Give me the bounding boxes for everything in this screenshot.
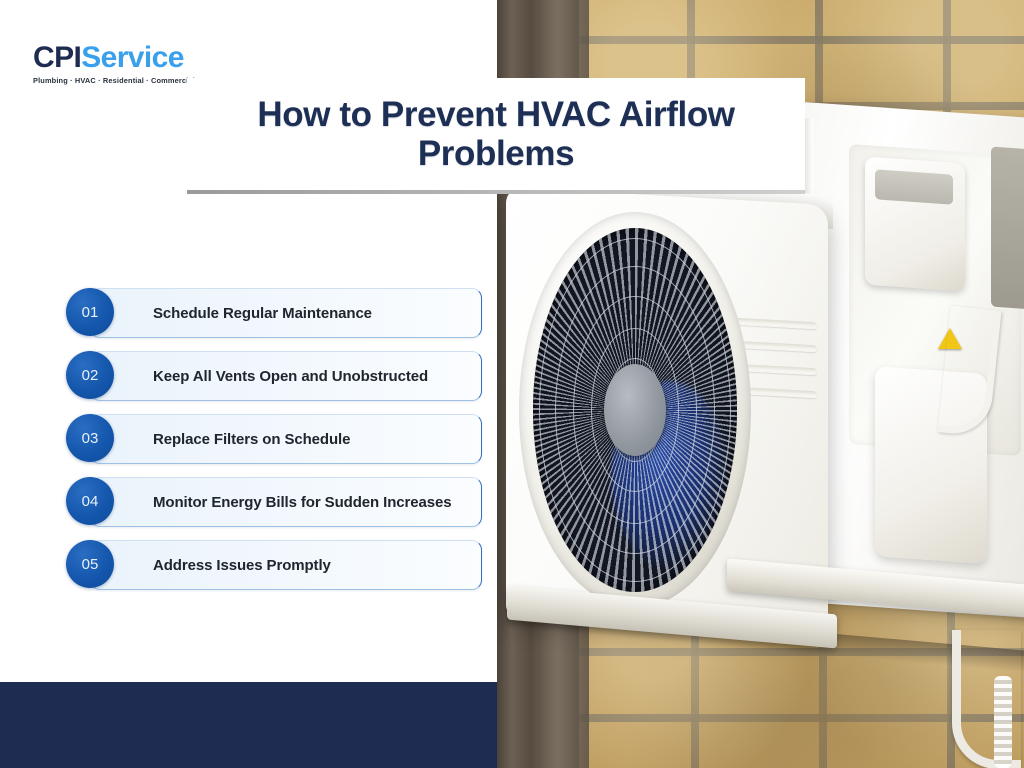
list-item[interactable]: Replace Filters on Schedule 03 (66, 414, 486, 462)
tip-pill[interactable]: Schedule Regular Maintenance (90, 288, 482, 338)
infographic-canvas: CPIService Plumbing · HVAC · Residential… (0, 0, 1024, 768)
logo-tagline: Plumbing · HVAC · Residential · Commerci… (33, 76, 213, 85)
title-banner: How to Prevent HVAC Airflow Problems (187, 78, 805, 190)
fan-center-hub (604, 364, 666, 456)
tips-list: Schedule Regular Maintenance 01 Keep All… (66, 288, 486, 603)
list-item[interactable]: Keep All Vents Open and Unobstructed 02 (66, 351, 486, 399)
footer-bar (0, 682, 497, 768)
tip-number-badge: 05 (66, 540, 114, 588)
tip-label: Keep All Vents Open and Unobstructed (153, 368, 428, 385)
tip-label: Monitor Energy Bills for Sudden Increase… (153, 494, 451, 511)
fan-grille (533, 228, 737, 592)
tip-label: Schedule Regular Maintenance (153, 305, 372, 322)
tip-number-badge: 01 (66, 288, 114, 336)
logo-text-cpi: CPI (33, 41, 81, 74)
tip-number-badge: 03 (66, 414, 114, 462)
tip-pill[interactable]: Keep All Vents Open and Unobstructed (90, 351, 482, 401)
tip-label: Replace Filters on Schedule (153, 431, 350, 448)
hvac-fan-assembly (519, 212, 751, 608)
tip-pill[interactable]: Replace Filters on Schedule (90, 414, 482, 464)
tip-label: Address Issues Promptly (153, 557, 331, 574)
drain-hose-ribs (994, 676, 1012, 768)
list-item[interactable]: Schedule Regular Maintenance 01 (66, 288, 486, 336)
tip-number-badge: 02 (66, 351, 114, 399)
list-item[interactable]: Monitor Energy Bills for Sudden Increase… (66, 477, 486, 525)
logo-text-service: Service (81, 41, 184, 74)
page-title: How to Prevent HVAC Airflow Problems (187, 95, 805, 173)
tip-pill[interactable]: Monitor Energy Bills for Sudden Increase… (90, 477, 482, 527)
hvac-rear-box-slot (875, 169, 953, 204)
brand-logo[interactable]: CPIService Plumbing · HVAC · Residential… (33, 43, 213, 85)
hvac-rear-gray-plate (991, 147, 1024, 310)
tip-pill[interactable]: Address Issues Promptly (90, 540, 482, 590)
list-item[interactable]: Address Issues Promptly 05 (66, 540, 486, 588)
title-underline (187, 190, 805, 194)
tip-number-badge: 04 (66, 477, 114, 525)
logo-wordmark: CPIService (33, 43, 213, 73)
